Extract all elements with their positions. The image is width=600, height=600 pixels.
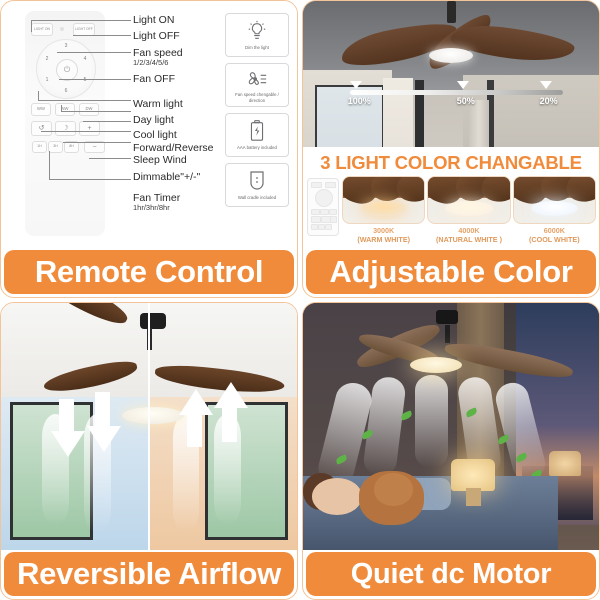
- split-divider: [148, 303, 150, 550]
- leader-line: [73, 35, 131, 36]
- leader-line: [59, 79, 131, 80]
- callout-title: Cool light: [133, 129, 177, 141]
- swatch-image: [427, 176, 510, 224]
- callout-warm-light: Warm light: [133, 99, 183, 110]
- feature-fan-speed-direction: Fan speed chengable / direction: [225, 63, 289, 107]
- feature-label: Wall cradle included: [238, 195, 276, 200]
- leader-line: [61, 111, 131, 112]
- swatch-image: [342, 176, 425, 224]
- feature-dim-the-light: Dim the light: [225, 13, 289, 57]
- swatch-glow: [445, 201, 492, 217]
- teddy-bear-head: [374, 473, 412, 505]
- function-row: ↺ ☽ +: [30, 121, 100, 135]
- leader-line: [38, 100, 131, 101]
- feature-label: Fan speed chengable / direction: [228, 92, 286, 103]
- swatch-glow: [360, 201, 407, 217]
- dim-label-20: 20%: [540, 96, 558, 106]
- callout-forward-reverse: Forward/Reverse: [133, 143, 214, 154]
- caption-adjustable-color: Adjustable Color: [306, 250, 596, 294]
- airflow-scene: [1, 303, 297, 550]
- callout-title: Day light: [133, 114, 174, 126]
- speed-6-label[interactable]: 6: [62, 89, 70, 94]
- light-bulb-icon: [246, 19, 268, 43]
- swatch-kelvin: 6000K: [529, 226, 580, 235]
- power-button[interactable]: ⏻: [56, 59, 78, 81]
- table-lamp-reflection: [549, 451, 582, 476]
- fan-speed-dial[interactable]: 3 4 5 6 1 2 ⏻: [36, 39, 96, 99]
- panel-remote-control: LIGHT ON LIGHT OFF 3 4 5 6 1 2 ⏻ WW NW D…: [0, 0, 298, 298]
- fan-downrod: [447, 1, 456, 23]
- cct-swatch-row: 3000K (WARM WHITE) 4000K: [303, 174, 599, 245]
- callout-fan-off: Fan OFF: [133, 74, 175, 85]
- reverse-icon[interactable]: ↺: [31, 121, 52, 136]
- leader-line: [49, 179, 131, 180]
- battery-icon: [248, 119, 266, 143]
- fan-motor-housing: [140, 313, 166, 329]
- feature-badges: Dim the light Fan speed chengable / dire…: [225, 13, 289, 213]
- quiet-motor-illustration: [303, 303, 599, 550]
- fan-blade-icon: [245, 67, 269, 90]
- indicator-dot: [60, 27, 64, 31]
- caption-remote-control: Remote Control: [4, 250, 294, 294]
- feature-wall-cradle: Wall cradle included: [225, 163, 289, 207]
- dim-marker-50[interactable]: [457, 81, 469, 89]
- dim-marker-100[interactable]: [350, 81, 362, 89]
- table-lamp-shade: [451, 459, 495, 491]
- speed-4-label[interactable]: 4: [81, 57, 89, 62]
- fan-led-light: [429, 48, 473, 63]
- remote-control-illustration: LIGHT ON LIGHT OFF 3 4 5 6 1 2 ⏻ WW NW D…: [1, 1, 297, 248]
- swatch-name: (NATURAL WHITE ): [436, 235, 502, 244]
- callout-sub: 1/2/3/4/5/6: [133, 59, 183, 67]
- color-temperature-band: 3 LIGHT COLOR CHANGABLE: [303, 147, 599, 248]
- leader-line: [31, 20, 131, 21]
- caption-quiet-dc-motor: Quiet dc Motor: [306, 552, 596, 596]
- swatch-name: (WARM WHITE): [357, 235, 410, 244]
- caption-reversible-airflow: Reversible Airflow: [4, 552, 294, 596]
- leader-line: [61, 105, 62, 111]
- callout-title: Sleep Wind: [133, 154, 187, 166]
- swatch-kelvin: 3000K: [357, 226, 410, 235]
- leader-line: [49, 151, 50, 179]
- remote-control-device: LIGHT ON LIGHT OFF 3 4 5 6 1 2 ⏻ WW NW D…: [25, 11, 105, 236]
- infographic-grid: LIGHT ON LIGHT OFF 3 4 5 6 1 2 ⏻ WW NW D…: [0, 0, 600, 600]
- dim-label-50: 50%: [457, 96, 475, 106]
- callout-sleep-wind: Sleep Wind: [133, 155, 187, 166]
- leader-line: [63, 142, 131, 143]
- callout-fan-timer: Fan Timer 1hr/3hr/8hr: [133, 193, 180, 212]
- callout-fan-speed: Fan speed 1/2/3/4/5/6: [133, 48, 183, 67]
- fan-led-light: [122, 407, 184, 424]
- swatch-label: 6000K (COOL WHITE): [529, 226, 580, 245]
- table-lamp-base: [466, 488, 481, 505]
- callout-title: Fan OFF: [133, 73, 175, 85]
- timer-1h-button[interactable]: 1H: [32, 141, 47, 153]
- warm-white-button[interactable]: WW: [31, 103, 51, 116]
- dim-marker-20[interactable]: [540, 81, 552, 89]
- bedroom-scene: [303, 303, 599, 550]
- callout-light-on: Light ON: [133, 15, 174, 26]
- feature-label: AAA battery included: [237, 145, 277, 150]
- callout-sub: 1hr/3hr/8hr: [133, 204, 180, 212]
- speed-2-label[interactable]: 2: [43, 57, 51, 62]
- leader-line: [89, 158, 131, 159]
- cct-swatch-4000k: 4000K (NATURAL WHITE ): [428, 176, 509, 245]
- airflow-stream: [415, 375, 448, 469]
- callout-title: Warm light: [133, 98, 183, 110]
- callout-title: Light ON: [133, 14, 174, 26]
- fan-downrod: [445, 325, 450, 343]
- callout-light-off: Light OFF: [133, 31, 180, 42]
- callout-title: Dimmable"+/-": [133, 171, 200, 183]
- adjustable-color-illustration: 100% 50% 20% 3 LIGHT COLOR CHANGABLE: [303, 1, 599, 248]
- color-temperature-row: WW NW DW: [30, 103, 100, 115]
- swatch-glow: [531, 201, 578, 217]
- callout-day-light: Day light: [133, 115, 174, 126]
- swatch-kelvin: 4000K: [436, 226, 502, 235]
- leader-line: [31, 20, 32, 32]
- leader-line: [41, 131, 131, 132]
- reversible-airflow-illustration: [1, 303, 297, 550]
- dim-up-button[interactable]: +: [79, 121, 100, 136]
- dim-label-100: 100%: [348, 96, 371, 106]
- swatch-image: [513, 176, 596, 224]
- swatch-label: 3000K (WARM WHITE): [357, 226, 410, 245]
- wall-cradle-icon: [247, 169, 267, 193]
- day-white-button[interactable]: DW: [79, 103, 99, 116]
- callout-cool-light: Cool light: [133, 130, 177, 141]
- swatch-name: (COOL WHITE): [529, 235, 580, 244]
- swatch-label: 4000K (NATURAL WHITE ): [436, 226, 502, 245]
- panel-quiet-dc-motor: Quiet dc Motor: [302, 302, 600, 600]
- light-on-button[interactable]: LIGHT ON: [31, 23, 53, 36]
- timer-3h-button[interactable]: 3H: [48, 141, 63, 153]
- sleep-moon-icon[interactable]: ☽: [55, 121, 76, 136]
- cct-title: 3 LIGHT COLOR CHANGABLE: [303, 147, 599, 174]
- panel-adjustable-color: 100% 50% 20% 3 LIGHT COLOR CHANGABLE: [302, 0, 600, 298]
- panel-reversible-airflow: Reversible Airflow: [0, 302, 298, 600]
- feature-aaa-battery: AAA battery included: [225, 113, 289, 157]
- dimming-slider[interactable]: [350, 90, 563, 95]
- natural-white-button[interactable]: NW: [55, 103, 75, 116]
- cct-swatch-6000k: 6000K (COOL WHITE): [514, 176, 595, 245]
- speed-3-label[interactable]: 3: [62, 44, 70, 49]
- leader-line: [57, 52, 131, 53]
- leader-line: [83, 121, 131, 122]
- leader-line: [38, 91, 39, 100]
- callout-title: Forward/Reverse: [133, 142, 214, 154]
- cct-swatch-3000k: 3000K (WARM WHITE): [343, 176, 424, 245]
- fan-motor-housing: [436, 310, 458, 324]
- callout-dimmable: Dimmable"+/-": [133, 172, 200, 183]
- feature-label: Dim the light: [245, 45, 269, 50]
- mini-remote-thumbnail: [307, 178, 339, 236]
- callout-title: Light OFF: [133, 30, 180, 42]
- speed-1-label[interactable]: 1: [43, 78, 51, 83]
